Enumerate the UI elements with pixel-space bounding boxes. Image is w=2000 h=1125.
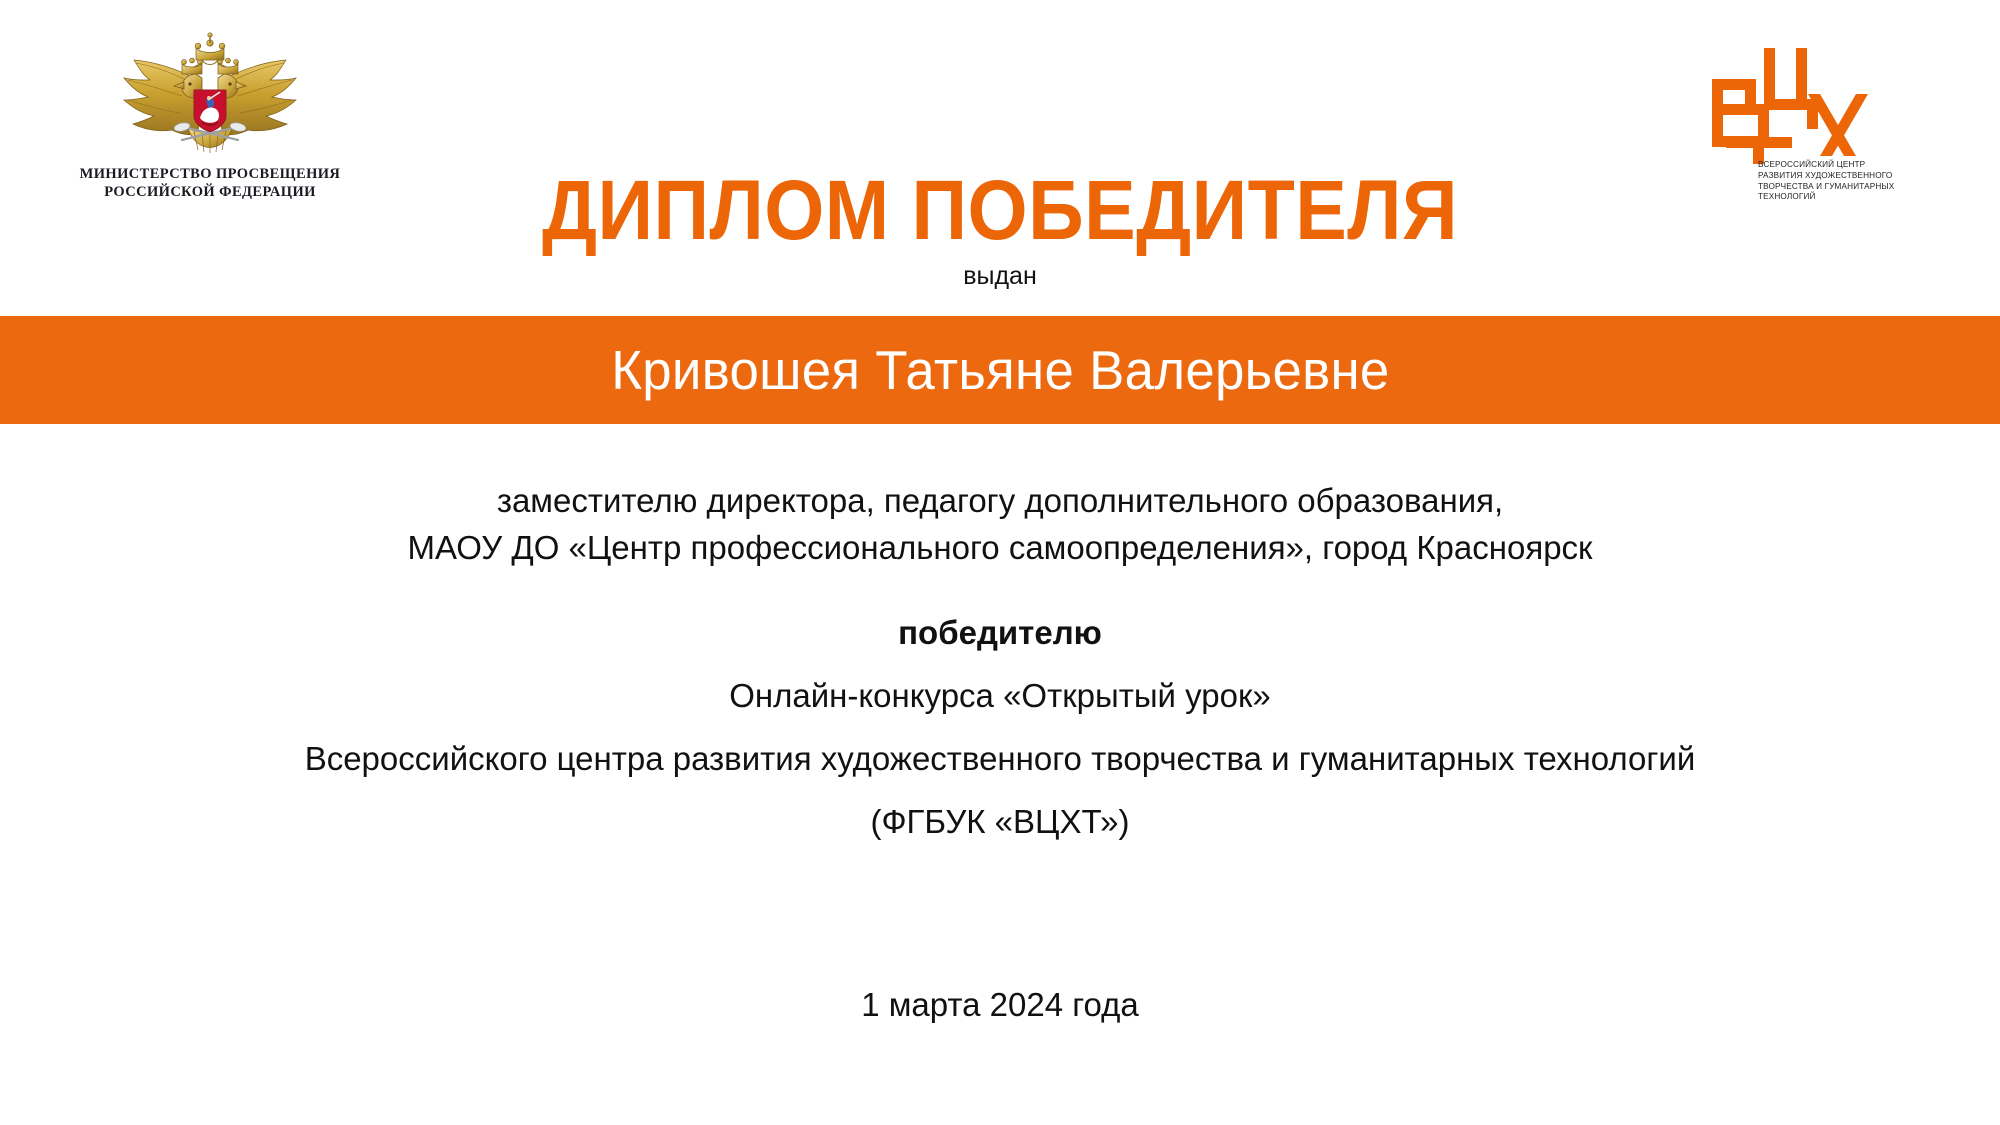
page-title: ДИПЛОМ ПОБЕДИТЕЛЯ	[80, 168, 1920, 252]
issued-label: выдан	[0, 264, 2000, 289]
russian-double-headed-eagle-emblem	[110, 30, 310, 160]
issue-date: 1 марта 2024 года	[0, 988, 2000, 1021]
organization-name: Всероссийского центра развития художеств…	[0, 742, 2000, 775]
vcht-logo	[1708, 34, 1898, 164]
organization-abbreviation: (ФГБУК «ВЦХТ»)	[0, 805, 2000, 838]
header: МИНИСТЕРСТВО ПРОСВЕЩЕНИЯ РОССИЙСКОЙ ФЕДЕ…	[0, 0, 2000, 316]
contest-name: Онлайн-конкурса «Открытый урок»	[0, 679, 2000, 712]
recipient-role-line-1: заместителю директора, педагогу дополнит…	[0, 478, 2000, 525]
vcht-logo-block: ВСЕРОССИЙСКИЙ ЦЕНТР РАЗВИТИЯ ХУДОЖЕСТВЕН…	[1692, 34, 1922, 164]
recipient-role-line-2: МАОУ ДО «Центр профессионального самоопр…	[0, 525, 2000, 572]
recipient-name: Кривошея Татьяне Валерьевне	[611, 343, 1389, 398]
recipient-name-band: Кривошея Татьяне Валерьевне	[0, 316, 2000, 424]
award-word: победителю	[0, 616, 2000, 649]
recipient-role-block: заместителю директора, педагогу дополнит…	[0, 478, 2000, 572]
body: заместителю директора, педагогу дополнит…	[0, 424, 2000, 1021]
diploma-page: { "document": { "kind": "diploma-certifi…	[0, 0, 2000, 1125]
